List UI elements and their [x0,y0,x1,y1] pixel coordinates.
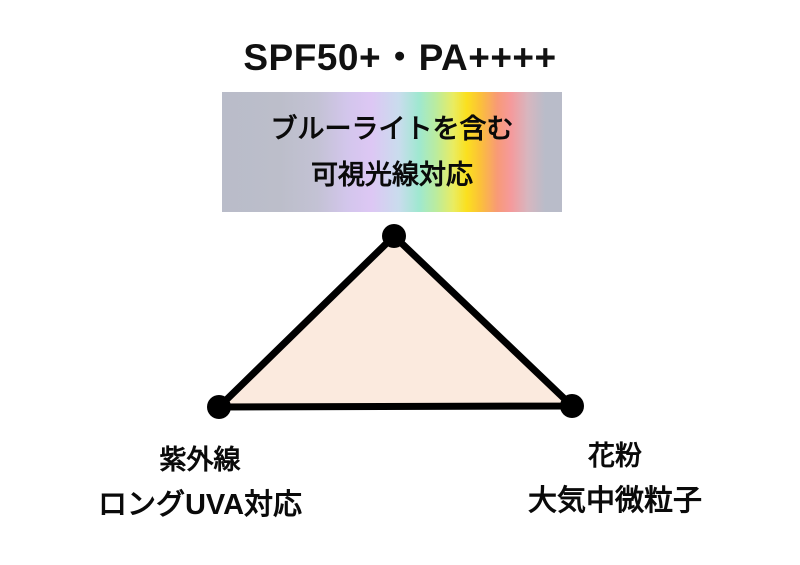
label-bottom-right-line1: 花粉 [455,443,775,470]
label-bottom-left: 紫外線 ロングUVA対応 [20,447,380,520]
triangle-vertex-bottom-left [207,395,231,419]
spectrum-banner-line1: ブルーライトを含む [222,116,562,143]
triangle-shape [219,236,572,407]
triangle-vertex-top [382,224,406,248]
visible-light-spectrum-banner: ブルーライトを含む 可視光線対応 [222,92,562,212]
label-bottom-right-line2: 大気中微粒子 [455,487,775,516]
triangle-vertex-bottom-right [560,394,584,418]
label-bottom-left-line2: ロングUVA対応 [20,491,380,520]
label-bottom-right: 花粉 大気中微粒子 [455,443,775,516]
label-bottom-left-line1: 紫外線 [20,447,380,474]
diagram-canvas: SPF50+・PA++++ ブルーライトを含む 可視光線対応 紫外線 ロングUV… [0,0,800,565]
spectrum-banner-line2: 可視光線対応 [222,162,562,189]
page-title: SPF50+・PA++++ [0,38,800,79]
